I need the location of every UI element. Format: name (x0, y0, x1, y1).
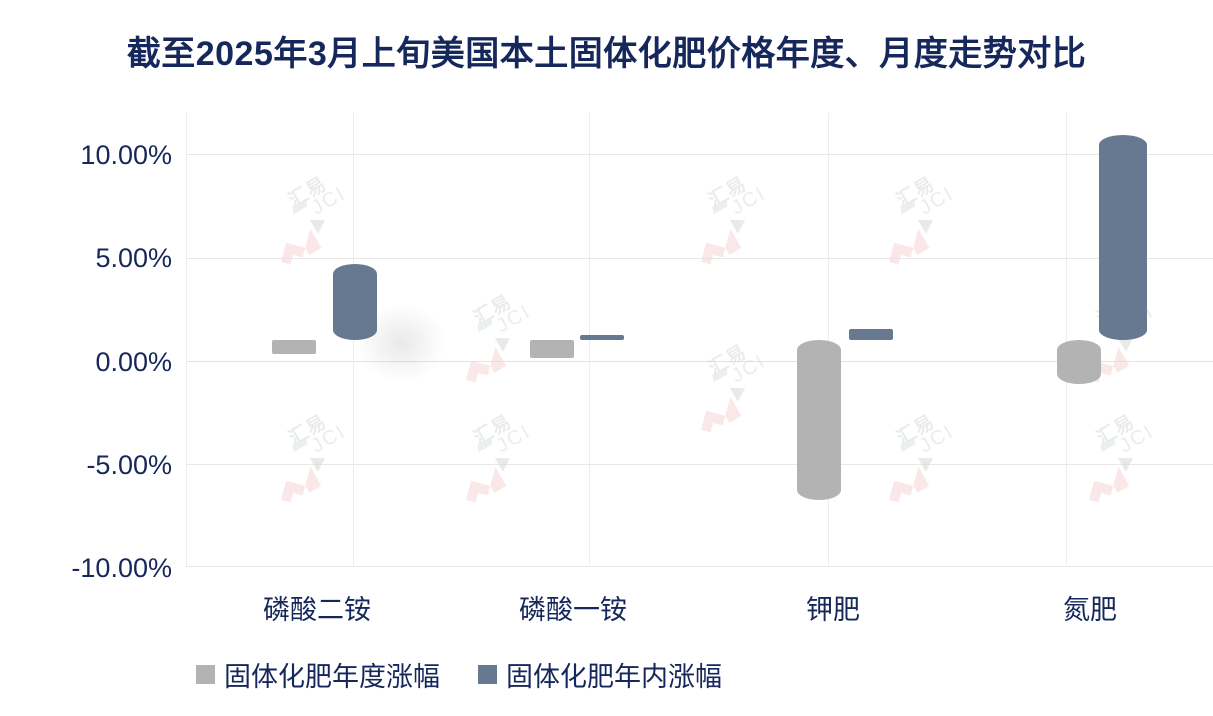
gridline-neg5 (186, 464, 1213, 465)
watermark-arrow-icon (266, 451, 333, 513)
watermark: 汇易 JCI (245, 147, 392, 281)
watermark-dash (712, 367, 727, 382)
watermark-arrow-icon (266, 213, 333, 275)
bar-annual-potash[interactable] (797, 340, 841, 500)
bar-annual-map[interactable] (530, 340, 574, 358)
watermark: 汇易 JCI (430, 385, 577, 519)
watermark-dash (712, 199, 727, 214)
watermark: 汇易 JCI (665, 147, 812, 281)
watermark-en-text: JCI (728, 182, 771, 220)
watermark-dash (477, 317, 492, 332)
watermark-arrow-icon (874, 451, 941, 513)
legend-swatch-ytd (478, 665, 497, 684)
watermark-triangle (495, 451, 514, 471)
bar-ytd-potash[interactable] (849, 329, 893, 340)
watermark-en-text: JCI (308, 420, 351, 458)
legend-label-ytd: 固体化肥年内涨幅 (506, 655, 722, 694)
bar-ytd-dap[interactable] (333, 264, 377, 340)
watermark-arrow-icon (451, 451, 518, 513)
watermark-cn-text: 汇易 (891, 407, 939, 450)
watermark-en-text: JCI (308, 182, 351, 220)
bar-ytd-nitrogen[interactable] (1099, 135, 1147, 340)
x-axis-label-map: 磷酸一铵 (488, 588, 658, 627)
gridline-vertical-1 (353, 113, 354, 567)
bar-ytd-map[interactable] (580, 335, 624, 340)
watermark-en-text: JCI (493, 420, 536, 458)
watermark-cn-text: 汇易 (1091, 407, 1139, 450)
y-tick-label-0: 0.00% (0, 347, 172, 378)
chart-title: 截至2025年3月上旬美国本土固体化肥价格年度、月度走势对比 (0, 26, 1213, 75)
chart-legend: 固体化肥年度涨幅 固体化肥年内涨幅 (196, 655, 722, 694)
watermark-arrow-icon (686, 381, 753, 443)
chart-container: 截至2025年3月上旬美国本土固体化肥价格年度、月度走势对比 10.00% 5.… (0, 0, 1213, 716)
watermark-arrow-icon (451, 331, 518, 393)
y-tick-label-5: 5.00% (0, 243, 172, 274)
watermark-triangle (1118, 451, 1137, 471)
watermark: 汇易 JCI (665, 315, 812, 449)
watermark-triangle (310, 213, 329, 233)
gridline-10 (186, 154, 1213, 155)
watermark-cn-text: 汇易 (703, 169, 751, 212)
watermark-cn-text: 汇易 (283, 407, 331, 450)
bar-annual-dap[interactable] (272, 340, 316, 354)
watermark-arrow-icon (1074, 451, 1141, 513)
watermark-cn-text: 汇易 (283, 169, 331, 212)
watermark-triangle (730, 213, 749, 233)
watermark-dash (292, 199, 307, 214)
gridline-vertical-4 (1066, 113, 1067, 567)
watermark-dash (1100, 437, 1115, 452)
watermark: 汇易 JCI (245, 385, 392, 519)
y-tick-label-neg5: -5.00% (0, 450, 172, 481)
gridline-vertical-0 (186, 113, 187, 567)
legend-swatch-annual (196, 665, 215, 684)
x-axis-label-dap: 磷酸二铵 (232, 588, 402, 627)
bar-annual-nitrogen[interactable] (1057, 340, 1101, 384)
watermark-cn-text: 汇易 (703, 337, 751, 380)
legend-label-annual: 固体化肥年度涨幅 (224, 655, 440, 694)
legend-item-annual[interactable]: 固体化肥年度涨幅 (196, 655, 440, 694)
y-tick-label-neg10: -10.00% (0, 553, 172, 584)
watermark-en-text: JCI (1116, 420, 1159, 458)
watermark-triangle (730, 381, 749, 401)
watermark: 汇易 JCI (853, 385, 1000, 519)
x-axis-label-nitrogen: 氮肥 (1005, 588, 1175, 627)
watermark-dash (900, 199, 915, 214)
watermark-dash (292, 437, 307, 452)
watermark-triangle (918, 451, 937, 471)
watermark-triangle (918, 213, 937, 233)
y-tick-label-10: 10.00% (0, 140, 172, 171)
watermark-cn-text: 汇易 (468, 287, 516, 330)
watermark-dash (477, 437, 492, 452)
watermark-cn-text: 汇易 (891, 169, 939, 212)
plot-area: 汇易 JCI 汇易 JCI 汇易 JCI (186, 113, 1213, 567)
gridline-5 (186, 258, 1213, 259)
watermark: 汇易 JCI (430, 265, 577, 399)
gridline-neg10 (186, 566, 1213, 567)
watermark-cn-text: 汇易 (468, 407, 516, 450)
gridline-vertical-2 (589, 113, 590, 567)
watermark-dash (900, 437, 915, 452)
watermark-en-text: JCI (916, 420, 959, 458)
watermark-triangle (310, 451, 329, 471)
watermark-arrow-icon (874, 213, 941, 275)
watermark: 汇易 JCI (1053, 385, 1200, 519)
x-axis-label-potash: 钾肥 (748, 588, 918, 627)
legend-item-ytd[interactable]: 固体化肥年内涨幅 (478, 655, 722, 694)
watermark-en-text: JCI (916, 182, 959, 220)
watermark: 汇易 JCI (853, 147, 1000, 281)
watermark-en-text: JCI (728, 350, 771, 388)
watermark-arrow-icon (686, 213, 753, 275)
watermark-triangle (495, 331, 514, 351)
watermark-en-text: JCI (493, 300, 536, 338)
